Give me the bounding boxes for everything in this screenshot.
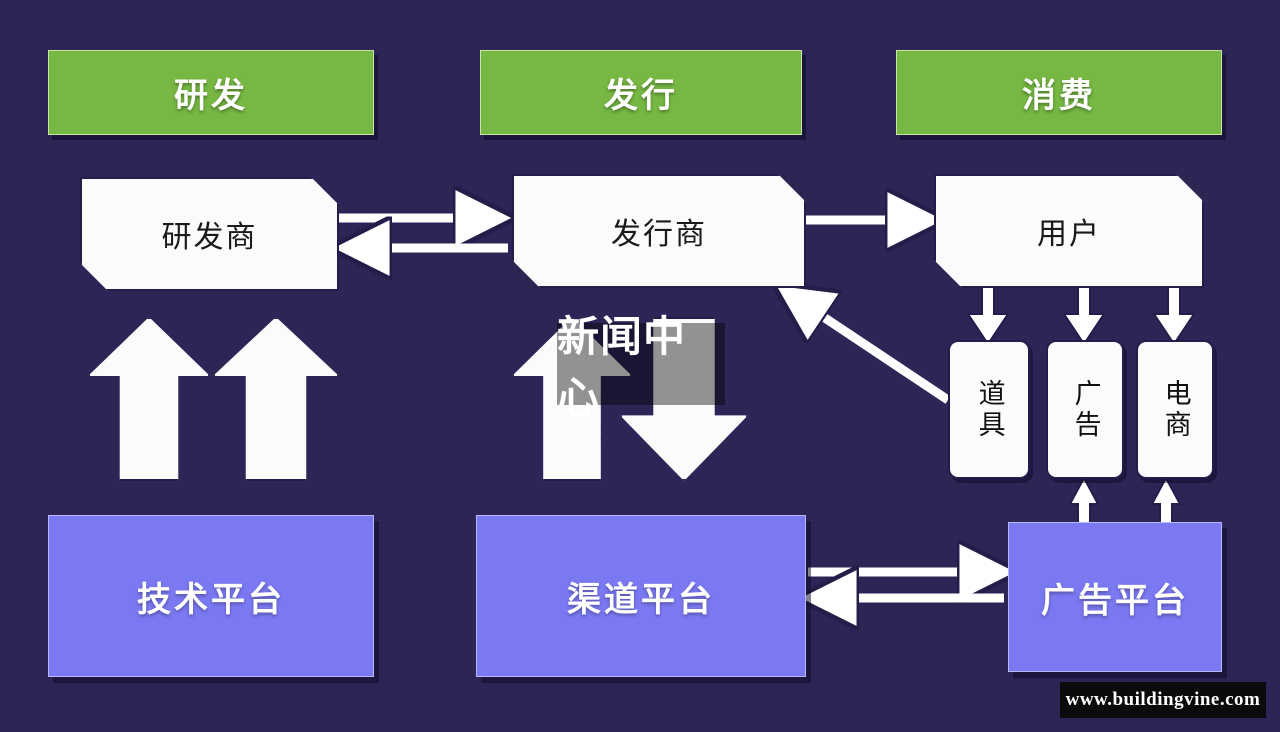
- actor-label: 发行商: [611, 209, 707, 253]
- watermark-url: www.buildingvine.com: [1060, 682, 1266, 718]
- platform-box-channel[interactable]: 渠道平台: [476, 515, 806, 677]
- platform-label: 渠道平台: [567, 572, 715, 621]
- arrow-user-to-ad: [1064, 284, 1104, 344]
- actor-label: 研发商: [162, 212, 258, 256]
- flow-label: 服务: [300, 387, 337, 445]
- phase-label: 研发: [174, 68, 248, 117]
- monetization-box-ecommerce[interactable]: 电商: [1136, 340, 1214, 479]
- platform-label: 技术平台: [137, 572, 285, 621]
- flow-label: 引擎: [171, 387, 208, 445]
- monetization-box-item[interactable]: 道具: [948, 340, 1030, 479]
- flow-arrow-engine[interactable]: 引擎: [88, 317, 210, 481]
- watermark-url-text: www.buildingvine.com: [1066, 689, 1261, 711]
- actor-box-publisher[interactable]: 发行商: [512, 174, 806, 288]
- monetization-box-ad[interactable]: 广告: [1046, 340, 1124, 479]
- actor-box-developer[interactable]: 研发商: [80, 177, 339, 291]
- arrow-adplatform-to-ad: [1070, 478, 1098, 524]
- arrow-user-to-ecommerce: [1154, 284, 1194, 344]
- phase-header-consume[interactable]: 消费: [896, 50, 1222, 135]
- platform-box-advertising[interactable]: 广告平台: [1008, 522, 1222, 672]
- watermark-center-text: 新闻中心: [557, 303, 725, 425]
- platform-label: 广告平台: [1041, 573, 1189, 622]
- actor-label: 用户: [1037, 209, 1101, 253]
- platform-box-technology[interactable]: 技术平台: [48, 515, 374, 677]
- phase-label: 发行: [604, 68, 678, 117]
- phase-header-rd[interactable]: 研发: [48, 50, 374, 135]
- flow-arrow-service[interactable]: 服务: [213, 317, 339, 481]
- arrow-item-to-publisher: [786, 292, 948, 400]
- phase-label: 消费: [1022, 68, 1096, 117]
- actor-box-user[interactable]: 用户: [934, 174, 1204, 288]
- arrow-user-to-item: [968, 284, 1008, 344]
- phase-header-publish[interactable]: 发行: [480, 50, 802, 135]
- watermark-center: 新闻中心: [557, 323, 725, 405]
- monetization-label: 电商: [1160, 379, 1189, 441]
- monetization-label: 广告: [1070, 379, 1099, 441]
- arrow-adplatform-to-ecommerce: [1152, 478, 1180, 524]
- monetization-label: 道具: [974, 379, 1003, 441]
- diagram-canvas: 研发 发行 消费 研发商 发行商 用户 道具 广告 电商 引擎 服务 流量 运营…: [0, 0, 1280, 732]
